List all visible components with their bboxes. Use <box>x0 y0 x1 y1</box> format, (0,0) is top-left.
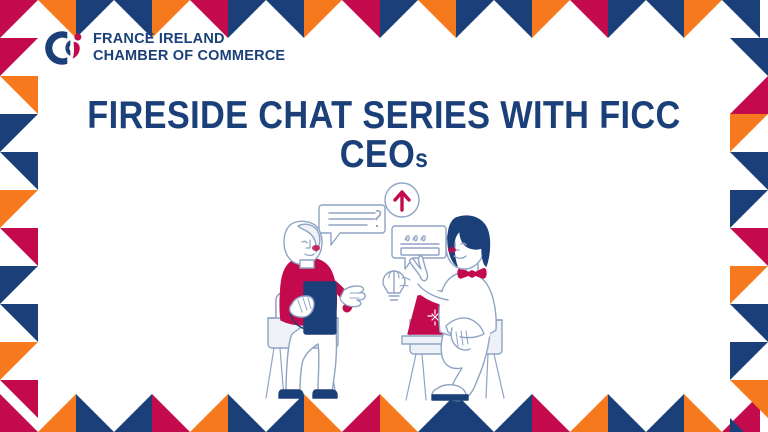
border-triangle-right-9 <box>730 380 768 418</box>
border-triangle-top-8 <box>304 0 342 38</box>
up-arrow-badge-icon <box>385 183 419 217</box>
logo-line-1: FRANCE IRELAND <box>93 31 285 48</box>
border-triangle-bottom-1 <box>38 394 76 432</box>
border-triangle-right-3 <box>730 152 768 190</box>
border-triangle-top-0 <box>0 0 38 38</box>
border-triangle-top-14 <box>532 0 570 38</box>
border-triangle-right-6 <box>730 266 768 304</box>
border-triangle-right-1 <box>730 76 768 114</box>
border-triangle-left-3 <box>0 152 38 190</box>
border-triangle-bottom-2 <box>76 394 114 432</box>
border-triangle-top-9 <box>342 0 380 38</box>
logo-wordmark: FRANCE IRELAND CHAMBER OF COMMERCE <box>93 31 285 65</box>
border-triangle-right-10 <box>730 418 768 432</box>
border-triangle-left-4 <box>0 190 38 228</box>
border-triangle-bottom-16 <box>608 394 646 432</box>
border-triangle-left-7 <box>0 304 38 342</box>
border-triangle-right-0 <box>730 38 768 76</box>
page-title-main: FIRESIDE CHAT SERIES WITH FICC CEO <box>87 94 680 176</box>
border-triangle-top-15 <box>570 0 608 38</box>
poster-canvas: FRANCE IRELAND CHAMBER OF COMMERCE FIRES… <box>0 0 768 432</box>
border-triangle-right-4 <box>730 190 768 228</box>
border-triangle-bottom-19 <box>722 394 760 432</box>
border-triangle-left-6 <box>0 266 38 304</box>
border-triangle-top-16 <box>608 0 646 38</box>
logo-line-2: CHAMBER OF COMMERCE <box>93 48 285 65</box>
border-triangle-left-0 <box>0 38 38 76</box>
border-triangle-right-2 <box>730 114 768 152</box>
border-triangle-left-2 <box>0 114 38 152</box>
border-triangle-top-17 <box>646 0 684 38</box>
two-people-fireside-chat-illustration <box>250 178 540 404</box>
border-triangle-bottom-15 <box>570 394 608 432</box>
border-triangle-top-11 <box>418 0 456 38</box>
border-triangle-left-5 <box>0 228 38 266</box>
border-triangle-right-7 <box>730 304 768 342</box>
page-title: FIRESIDE CHAT SERIES WITH FICC CEOs <box>46 96 722 174</box>
border-triangle-right-5 <box>730 228 768 266</box>
ficc-logo[interactable]: FRANCE IRELAND CHAMBER OF COMMERCE <box>40 26 285 70</box>
speech-bubble-question-icon <box>319 205 385 245</box>
border-triangle-top-13 <box>494 0 532 38</box>
border-triangle-top-19 <box>722 0 760 38</box>
border-triangle-top-12 <box>456 0 494 38</box>
border-triangle-top-10 <box>380 0 418 38</box>
border-triangle-left-8 <box>0 342 38 380</box>
border-triangle-left-9 <box>0 380 38 418</box>
border-triangle-bottom-5 <box>190 394 228 432</box>
border-triangle-bottom-0 <box>0 394 38 432</box>
person-left-interviewer <box>279 221 365 398</box>
border-triangle-bottom-3 <box>114 394 152 432</box>
border-triangle-bottom-4 <box>152 394 190 432</box>
border-triangle-right-8 <box>730 342 768 380</box>
ficc-c-monogram-icon <box>40 26 84 70</box>
border-triangle-left-1 <box>0 76 38 114</box>
border-triangle-bottom-18 <box>684 394 722 432</box>
border-triangle-left-10 <box>0 418 38 432</box>
page-title-suffix: s <box>415 143 428 173</box>
border-triangle-bottom-17 <box>646 394 684 432</box>
border-triangle-top-18 <box>684 0 722 38</box>
